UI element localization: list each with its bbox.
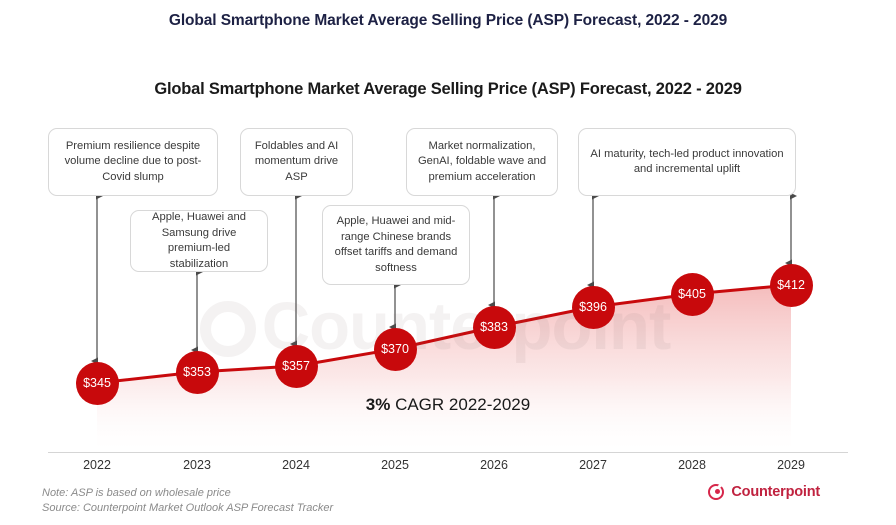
data-point-2023[interactable]: $353	[176, 351, 219, 394]
x-tick-2026: 2026	[444, 458, 544, 472]
annotation-box-2023: Apple, Huawei and Samsung drive premium-…	[130, 210, 268, 272]
data-point-label: $412	[777, 278, 805, 292]
annotation-text: AI maturity, tech-led product innovation…	[587, 147, 787, 178]
data-point-label: $345	[83, 376, 111, 390]
data-point-2028[interactable]: $405	[671, 273, 714, 316]
data-point-2026[interactable]: $383	[473, 306, 516, 349]
annotation-text: Apple, Huawei and Samsung drive premium-…	[139, 210, 259, 272]
x-tick-2022: 2022	[47, 458, 147, 472]
x-tick-2025: 2025	[345, 458, 445, 472]
cagr-value: 3%	[366, 395, 391, 414]
data-point-2027[interactable]: $396	[572, 286, 615, 329]
footer-notes: Note: ASP is based on wholesale price So…	[42, 486, 333, 516]
cagr-text: CAGR 2022-2029	[390, 395, 530, 414]
counterpoint-mark-icon	[708, 484, 724, 500]
data-point-label: $396	[579, 300, 607, 314]
x-tick-2027: 2027	[543, 458, 643, 472]
data-point-2024[interactable]: $357	[275, 345, 318, 388]
chart-area: Counterpoint Premium resilience despite …	[0, 0, 896, 525]
annotation-text: Foldables and AI momentum drive ASP	[249, 139, 344, 186]
annotation-text: Apple, Huawei and mid-range Chinese bran…	[331, 214, 461, 276]
annotation-box-2026: Market normalization, GenAI, foldable wa…	[406, 128, 558, 196]
annotation-box-2024: Foldables and AI momentum drive ASP	[240, 128, 353, 196]
annotation-box-2022: Premium resilience despite volume declin…	[48, 128, 218, 196]
x-tick-2028: 2028	[642, 458, 742, 472]
data-point-label: $353	[183, 365, 211, 379]
x-tick-2024: 2024	[246, 458, 346, 472]
x-axis-line	[48, 452, 848, 453]
annotation-box-2027-2029: AI maturity, tech-led product innovation…	[578, 128, 796, 196]
x-tick-2029: 2029	[741, 458, 841, 472]
cagr-annotation: 3% CAGR 2022-2029	[0, 395, 896, 415]
data-point-2025[interactable]: $370	[374, 328, 417, 371]
data-point-label: $370	[381, 342, 409, 356]
footer-note: Note: ASP is based on wholesale price	[42, 486, 333, 501]
data-point-label: $357	[282, 359, 310, 373]
annotation-text: Premium resilience despite volume declin…	[57, 139, 209, 186]
counterpoint-logo-text: Counterpoint	[731, 484, 820, 500]
data-point-label: $383	[480, 320, 508, 334]
annotation-box-2025: Apple, Huawei and mid-range Chinese bran…	[322, 205, 470, 285]
data-point-2029[interactable]: $412	[770, 264, 813, 307]
data-point-label: $405	[678, 287, 706, 301]
footer-source: Source: Counterpoint Market Outlook ASP …	[42, 501, 333, 516]
x-tick-2023: 2023	[147, 458, 247, 472]
annotation-text: Market normalization, GenAI, foldable wa…	[415, 139, 549, 186]
counterpoint-logo: Counterpoint	[708, 484, 820, 500]
